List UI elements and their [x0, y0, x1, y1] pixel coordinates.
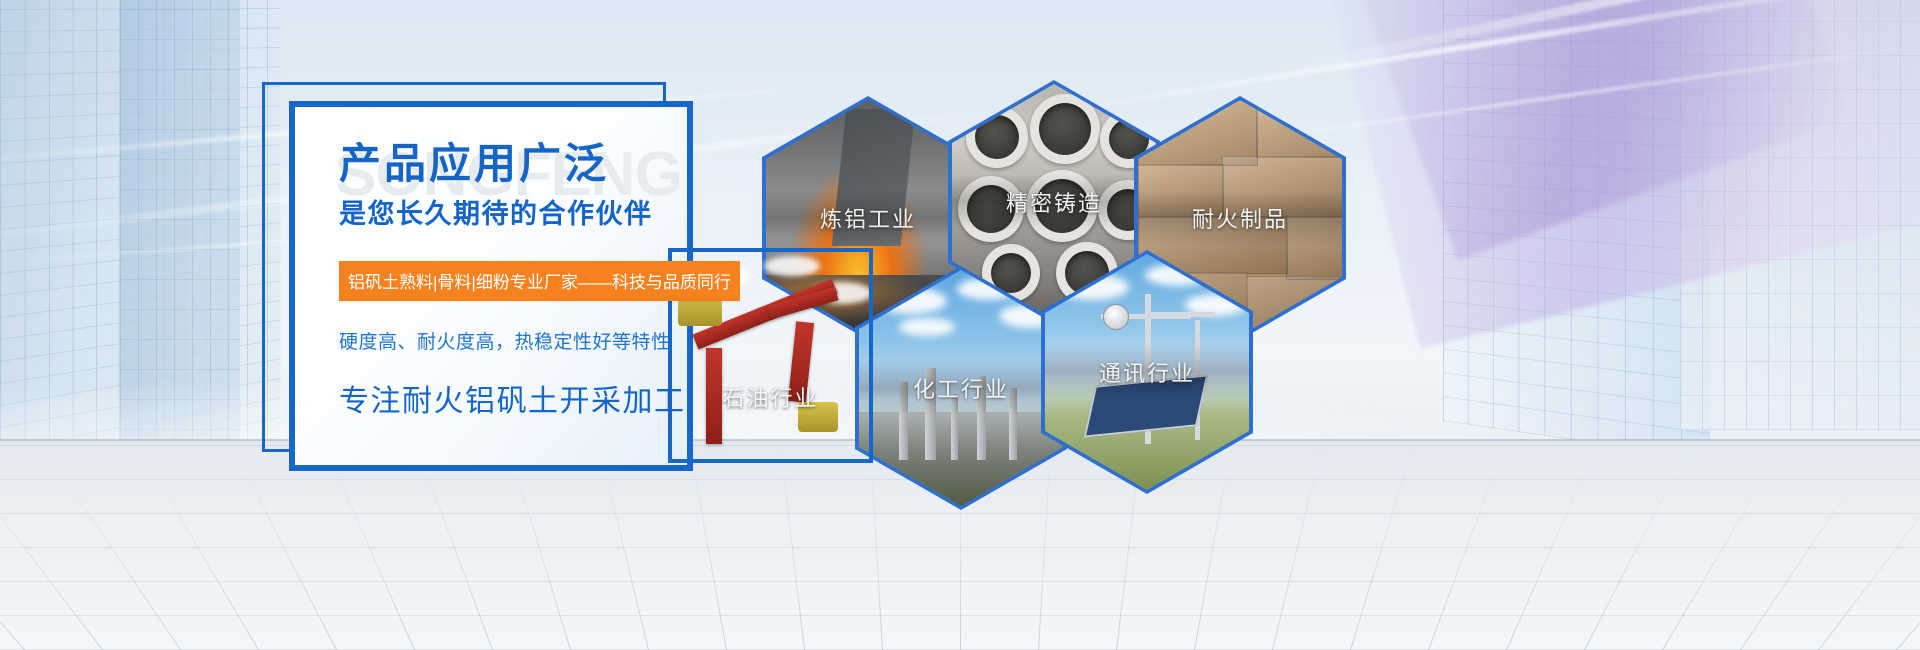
promo-card: SONGFENG 产品应用广泛 是您长久期待的合作伙伴 铝矾土熟料|骨料|细粉专…	[289, 101, 693, 471]
application-label: 耐火制品	[1138, 202, 1342, 234]
subtitle: 是您长久期待的合作伙伴	[339, 192, 687, 231]
application-label: 通讯行业	[1045, 356, 1249, 388]
casting-ring	[966, 106, 1028, 168]
page-title: 产品应用广泛	[339, 141, 687, 186]
application-label: 石油行业	[672, 381, 869, 413]
application-label: 化工行业	[859, 372, 1063, 404]
satellite-dish-icon	[1103, 304, 1129, 330]
cloud	[764, 256, 820, 276]
promo-card-outer-frame: SONGFENG 产品应用广泛 是您长久期待的合作伙伴 铝矾土熟料|骨料|细粉专…	[262, 82, 666, 452]
tagline-text: 专注耐火铝矾土开采加工	[339, 376, 687, 420]
application-label: 精密铸造	[952, 186, 1156, 218]
casting-ring	[1030, 94, 1100, 164]
status-badge: 铝矾土熟料|骨料|细粉专业厂家——科技与品质同行	[339, 261, 740, 301]
application-label: 炼铝工业	[766, 202, 970, 234]
promo-card-content: SONGFENG 产品应用广泛 是您长久期待的合作伙伴 铝矾土熟料|骨料|细粉专…	[295, 107, 687, 465]
cloud	[899, 318, 955, 336]
feature-text: 硬度高、耐火度高，热稳定性好等特性	[339, 327, 687, 354]
mast-part	[1149, 312, 1215, 317]
